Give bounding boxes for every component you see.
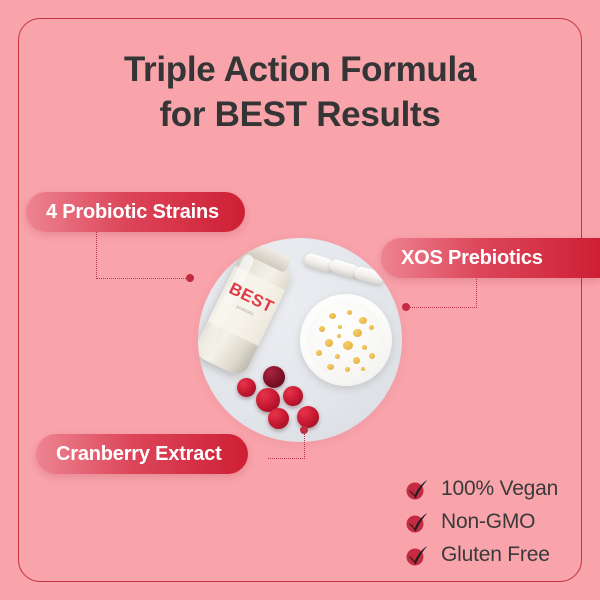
claims-list: 100% Vegan Non-GMO Gluten Free <box>404 472 558 571</box>
connector-dot-probiotic <box>186 274 194 282</box>
feature-badge-xos-prebiotics[interactable]: XOS Prebiotics <box>381 238 600 278</box>
supplement-bottle: BEST probiotic <box>198 248 294 379</box>
connector-line-cranberry <box>268 458 305 459</box>
product-poster: Triple Action Formula for BEST Results <box>0 0 600 600</box>
cranberry <box>283 386 303 406</box>
check-icon <box>404 476 430 502</box>
feature-badge-label: Cranberry Extract <box>56 443 222 466</box>
connector-line-prebiotic <box>406 307 477 308</box>
connector-dot-prebiotic <box>402 303 410 311</box>
headline-line-1: Triple Action Formula <box>124 50 476 89</box>
connector-line-probiotic <box>96 278 190 279</box>
product-photo: BEST probiotic <box>198 238 402 442</box>
cranberry <box>237 378 256 397</box>
check-icon <box>404 542 430 568</box>
claim-label: Gluten Free <box>441 543 550 567</box>
claim-label: 100% Vegan <box>441 477 558 501</box>
yogurt-bowl <box>300 294 392 386</box>
page-title: Triple Action Formula for BEST Results <box>0 48 600 138</box>
cranberry <box>268 408 289 429</box>
claim-item-gluten-free: Gluten Free <box>404 538 558 571</box>
check-icon <box>404 509 430 535</box>
connector-line-probiotic <box>96 230 97 279</box>
capsule-icon <box>353 266 385 286</box>
feature-badge-cranberry-extract[interactable]: Cranberry Extract <box>36 434 248 474</box>
feature-badge-label: 4 Probiotic Strains <box>46 201 219 224</box>
connector-dot-cranberry <box>300 426 308 434</box>
claim-label: Non-GMO <box>441 510 535 534</box>
bottle-cap <box>249 241 292 273</box>
feature-badge-label: XOS Prebiotics <box>401 247 543 270</box>
headline-line-2: for BEST Results <box>0 93 600 138</box>
yogurt-surface <box>307 301 385 379</box>
connector-line-prebiotic <box>476 276 477 308</box>
cranberry <box>263 366 285 388</box>
product-photo-scene: BEST probiotic <box>198 238 402 442</box>
cranberry <box>297 406 319 428</box>
claim-item-non-gmo: Non-GMO <box>404 505 558 538</box>
bottle-label: BEST probiotic <box>208 266 286 346</box>
feature-badge-probiotic-strains[interactable]: 4 Probiotic Strains <box>26 192 245 232</box>
connector-line-cranberry <box>304 430 305 459</box>
claim-item-vegan: 100% Vegan <box>404 472 558 505</box>
